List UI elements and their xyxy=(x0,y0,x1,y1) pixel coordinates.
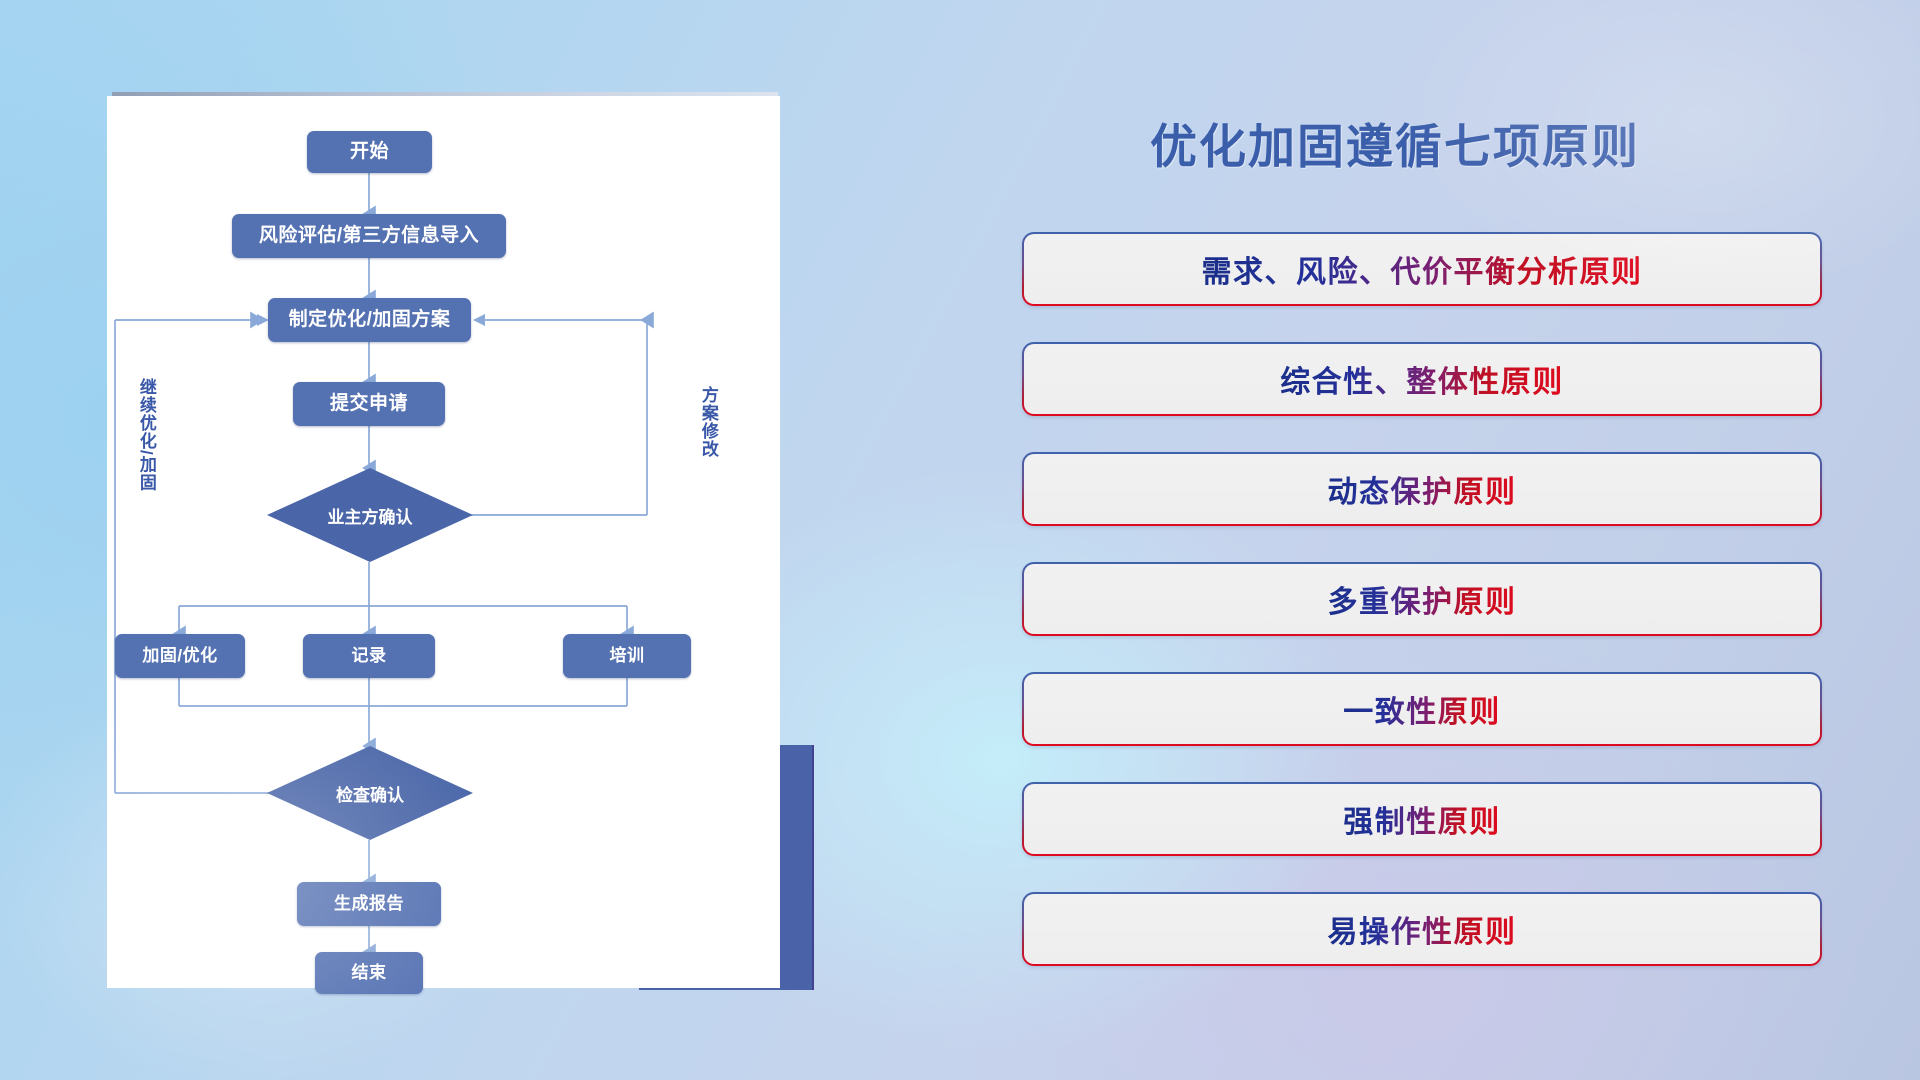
principle-label: 一致性原则 xyxy=(1343,687,1501,731)
principle-card[interactable]: 易操作性原则 xyxy=(1022,892,1822,966)
flowchart-panel: 开始 风险评估/第三方信息导入 制定优化/加固方案 提交申请 业主方确认 加固/… xyxy=(107,96,780,988)
flow-edge-label-right: 方案修改 xyxy=(699,386,717,458)
flow-decision-owner-check: 业主方确认 xyxy=(267,468,473,562)
flow-node-label: 开始 xyxy=(350,142,389,163)
flow-node-label: 结束 xyxy=(352,964,387,983)
principle-card[interactable]: 动态保护原则 xyxy=(1022,452,1822,526)
flow-node-end: 结束 xyxy=(315,952,423,994)
principle-label: 多重保护原则 xyxy=(1328,577,1517,621)
flow-decision-inspect: 检查确认 xyxy=(267,746,473,840)
principle-label: 需求、风险、代价平衡分析原则 xyxy=(1202,247,1643,291)
flow-node-reinforce: 加固/优化 xyxy=(115,634,245,678)
flow-node-label: 业主方确认 xyxy=(328,503,413,528)
flow-node-training: 培训 xyxy=(563,634,691,678)
principle-label: 动态保护原则 xyxy=(1328,467,1517,511)
slide-root: 开始 风险评估/第三方信息导入 制定优化/加固方案 提交申请 业主方确认 加固/… xyxy=(0,0,1920,1080)
principle-label: 综合性、整体性原则 xyxy=(1280,357,1564,401)
flow-node-report: 生成报告 xyxy=(297,882,441,926)
flow-node-label: 记录 xyxy=(352,647,387,666)
flow-node-label: 提交申请 xyxy=(330,394,408,415)
flow-node-label: 加固/优化 xyxy=(142,647,217,666)
flow-node-risk: 风险评估/第三方信息导入 xyxy=(232,214,506,258)
principles-list: 需求、风险、代价平衡分析原则 综合性、整体性原则 动态保护原则 多重保护原则 一… xyxy=(1022,232,1822,1002)
principle-card[interactable]: 一致性原则 xyxy=(1022,672,1822,746)
principle-card[interactable]: 多重保护原则 xyxy=(1022,562,1822,636)
flow-node-label: 培训 xyxy=(610,647,645,666)
flow-node-label: 风险评估/第三方信息导入 xyxy=(259,226,479,247)
principle-card[interactable]: 强制性原则 xyxy=(1022,782,1822,856)
flow-node-label: 制定优化/加固方案 xyxy=(289,310,451,331)
principle-label: 易操作性原则 xyxy=(1328,907,1517,951)
flow-node-submit: 提交申请 xyxy=(293,382,445,426)
flow-node-plan: 制定优化/加固方案 xyxy=(268,298,471,342)
principle-card[interactable]: 综合性、整体性原则 xyxy=(1022,342,1822,416)
flow-node-label: 生成报告 xyxy=(334,895,404,914)
flow-node-start: 开始 xyxy=(307,131,432,173)
principle-card[interactable]: 需求、风险、代价平衡分析原则 xyxy=(1022,232,1822,306)
flow-edge-label-left: 继续优化/加固 xyxy=(137,378,155,492)
principle-label: 强制性原则 xyxy=(1343,797,1501,841)
flow-node-label: 检查确认 xyxy=(336,781,404,806)
page-title: 优化加固遵循七项原则 xyxy=(1150,108,1640,177)
flow-node-record: 记录 xyxy=(303,634,435,678)
flowchart-canvas: 开始 风险评估/第三方信息导入 制定优化/加固方案 提交申请 业主方确认 加固/… xyxy=(107,96,780,988)
